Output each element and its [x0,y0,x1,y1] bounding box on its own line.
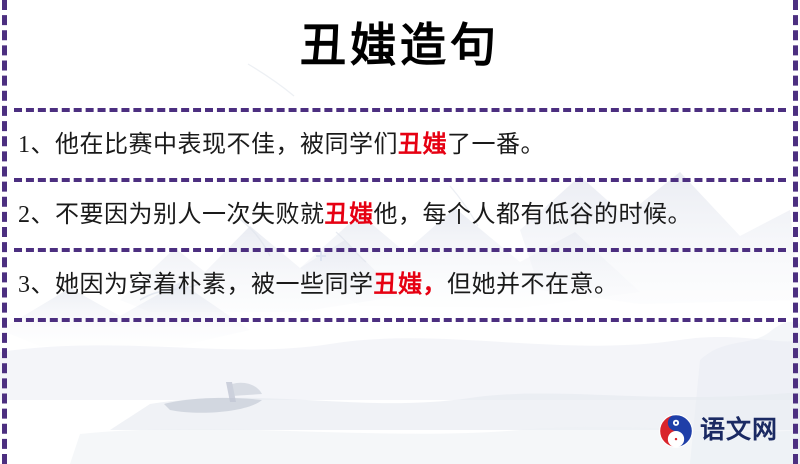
site-logo-text: 语文网 [700,417,778,445]
slide-page: 丑媸造句 1、他在比赛中表现不佳，被同学们丑媸了一番。 2、不要因为别人一次失败… [0,0,800,464]
page-title-container: 丑媸造句 [0,16,800,76]
sentence-item-1: 1、他在比赛中表现不佳，被同学们丑媸了一番。 [14,112,786,178]
divider-bottom [14,318,786,322]
keyword-highlight: 丑媸， [374,272,448,298]
site-logo[interactable]: 语文网 [659,414,778,448]
sentence-text-part: 他，每个人都有低谷的时候。 [374,202,693,228]
sentence-list: 1、他在比赛中表现不佳，被同学们丑媸了一番。 2、不要因为别人一次失败就丑媸他，… [14,108,786,322]
sentence-text-part: 不要因为别人一次失败就 [55,202,325,228]
page-title: 丑媸造句 [300,16,500,76]
sentence-item-3: 3、她因为穿着朴素，被一些同学丑媸，但她并不在意。 [14,252,786,318]
sentence-text-part: 他在比赛中表现不佳，被同学们 [55,132,398,158]
sentence-text-part: 了一番。 [447,132,545,158]
sentence-index-1: 1、 [18,132,55,158]
yinyang-circle-logo-icon [659,414,693,448]
keyword-highlight: 丑媸 [325,202,374,228]
sentence-text-part: 她因为穿着朴素，被一些同学 [55,272,374,298]
sentence-item-2: 2、不要因为别人一次失败就丑媸他，每个人都有低谷的时候。 [14,182,786,248]
keyword-highlight: 丑媸 [398,132,447,158]
sentence-text-part: 但她并不在意。 [447,272,619,298]
sentence-index-3: 3、 [18,272,55,298]
sentence-index-2: 2、 [18,202,55,228]
